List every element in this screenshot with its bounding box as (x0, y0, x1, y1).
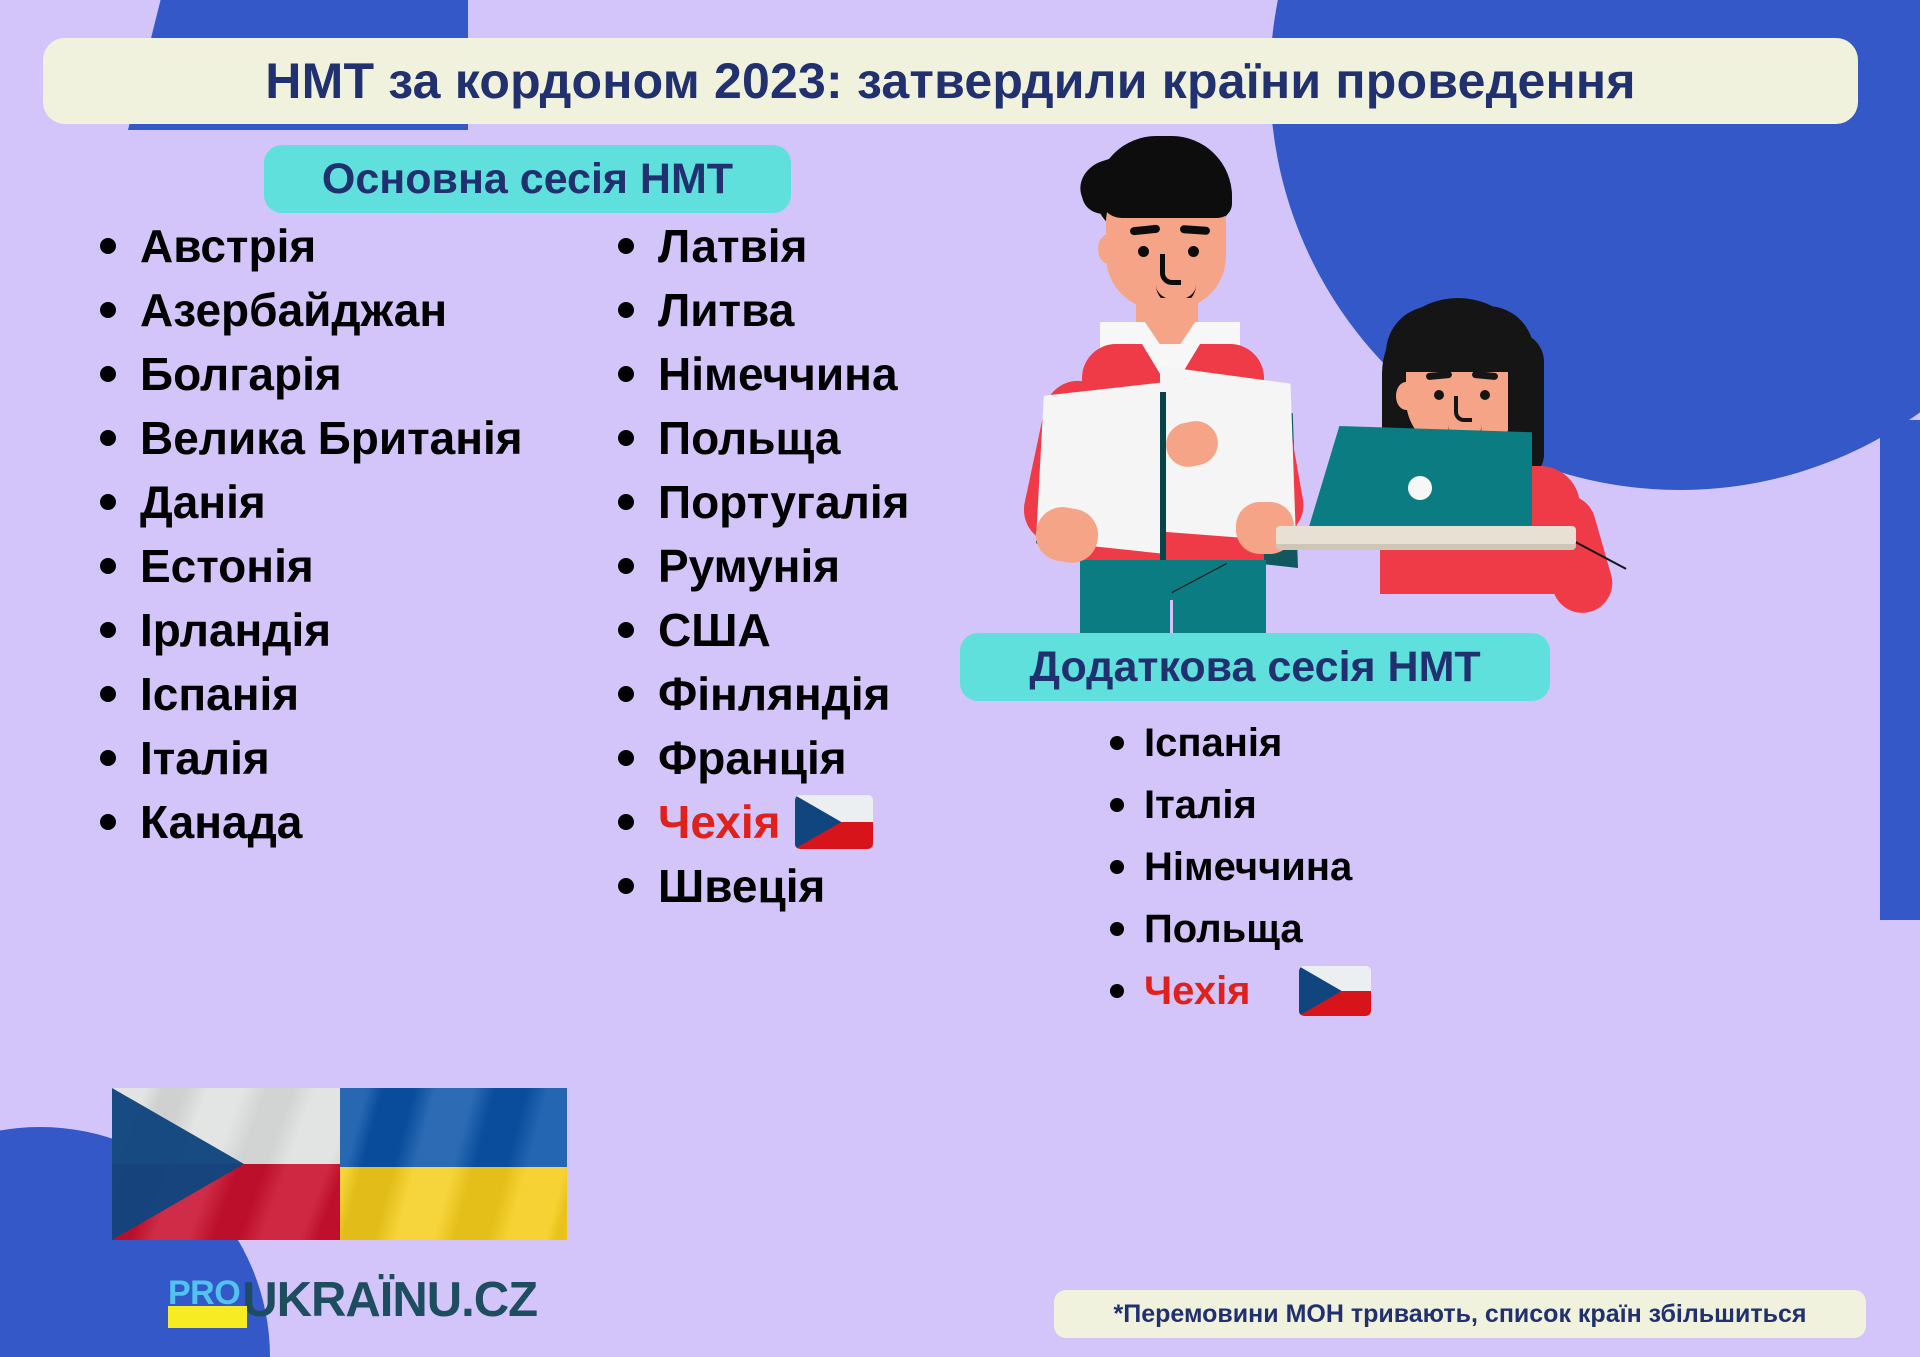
country-name: Фінляндія (658, 667, 891, 721)
czech-flag-photo (112, 1088, 340, 1240)
country-name: Франція (658, 731, 847, 785)
bullet-icon (618, 494, 634, 510)
page-title: НМТ за кордоном 2023: затвердили країни … (265, 52, 1635, 110)
country-name: США (658, 603, 771, 657)
country-name: Латвія (658, 219, 807, 273)
country-name: Болгарія (140, 347, 342, 401)
extra-session-badge-label: Додаткова сесія НМТ (1029, 643, 1480, 692)
country-list-item: Фінляндія (618, 662, 910, 726)
logo-main-text: UKRAÏNU.CZ (242, 1274, 537, 1326)
country-name: Данія (140, 475, 266, 529)
bullet-icon (618, 814, 634, 830)
country-list-item: Португалія (618, 470, 910, 534)
country-name: Польща (1144, 907, 1303, 952)
country-list-item: Франція (618, 726, 910, 790)
main-session-badge: Основна сесія НМТ (264, 145, 791, 213)
bullet-icon (618, 302, 634, 318)
boy-ear (1098, 234, 1120, 264)
bullet-icon (100, 814, 116, 830)
country-name: Італія (1144, 783, 1257, 828)
bullet-icon (618, 750, 634, 766)
country-name: Іспанія (140, 667, 299, 721)
bullet-icon (1110, 860, 1124, 874)
bullet-icon (1110, 736, 1124, 750)
country-name: Естонія (140, 539, 314, 593)
bullet-icon (100, 430, 116, 446)
country-name: Канада (140, 795, 302, 849)
bullet-icon (618, 558, 634, 574)
book-spine (1160, 392, 1166, 560)
extra-session-badge: Додаткова сесія НМТ (960, 633, 1550, 701)
country-list-item: Німеччина (1110, 836, 1371, 898)
title-banner: НМТ за кордоном 2023: затвердили країни … (43, 38, 1858, 124)
boy-eye-right (1188, 246, 1199, 257)
footer-note-banner: *Перемовини МОН тривають, список країн з… (1054, 1290, 1866, 1338)
laptop-icon (1300, 426, 1600, 562)
country-list-item: Чехія (1110, 960, 1371, 1022)
ukraine-flag-photo (340, 1088, 567, 1240)
bullet-icon (1110, 798, 1124, 812)
country-list-item: Велика Британія (100, 406, 523, 470)
boy-eye-left (1138, 246, 1149, 257)
country-list-item: Латвія (618, 214, 910, 278)
country-name: Ірландія (140, 603, 331, 657)
country-list-item: Ірландія (100, 598, 523, 662)
bullet-icon (100, 366, 116, 382)
logo-pro-block: PRO (168, 1276, 240, 1310)
infographic-canvas: НМТ за кордоном 2023: затвердили країни … (0, 0, 1920, 1357)
country-list-item: Канада (100, 790, 523, 854)
boy-nose (1160, 254, 1181, 285)
country-name: Португалія (658, 475, 910, 529)
boy-with-book-figure (930, 130, 1360, 650)
country-name: Чехія (658, 795, 781, 849)
bullet-icon (100, 238, 116, 254)
bullet-icon (618, 238, 634, 254)
country-name: Чехія (1144, 969, 1251, 1014)
bullet-icon (618, 686, 634, 702)
prouktainu-logo[interactable]: PRO UKRAÏNU.CZ (168, 1274, 537, 1340)
logo-pro-text: PRO (168, 1276, 240, 1310)
country-list-item: Австрія (100, 214, 523, 278)
bullet-icon (618, 366, 634, 382)
girl-eye-left (1434, 390, 1444, 400)
country-list-item: Чехія (618, 790, 910, 854)
country-list-item: США (618, 598, 910, 662)
country-list-item: Болгарія (100, 342, 523, 406)
country-list-item: Польща (618, 406, 910, 470)
main-session-country-list-column-2: ЛатвіяЛитваНімеччинаПольщаПортугаліяРуму… (618, 214, 910, 918)
extra-session-country-list: ІспаніяІталіяНімеччинаПольщаЧехія (1110, 712, 1371, 1022)
decorative-strip-right-mid (1880, 420, 1920, 920)
country-list-item: Румунія (618, 534, 910, 598)
country-list-item: Іспанія (100, 662, 523, 726)
bullet-icon (100, 622, 116, 638)
boy-hair-fringe (1100, 160, 1232, 218)
czech-ukraine-flags-photo (112, 1088, 567, 1240)
country-name: Італія (140, 731, 270, 785)
country-list-item: Естонія (100, 534, 523, 598)
bullet-icon (100, 302, 116, 318)
czech-flag-icon (1299, 966, 1371, 1016)
bullet-icon (618, 622, 634, 638)
bullet-icon (100, 750, 116, 766)
students-illustration (930, 130, 1630, 650)
country-name: Азербайджан (140, 283, 447, 337)
girl-ear (1396, 382, 1416, 410)
country-name: Польща (658, 411, 840, 465)
footer-note-text: *Перемовини МОН тривають, список країн з… (1114, 1300, 1807, 1329)
country-list-item: Швеція (618, 854, 910, 918)
laptop-base-shadow (1276, 544, 1576, 550)
country-name: Австрія (140, 219, 316, 273)
country-list-item: Польща (1110, 898, 1371, 960)
bullet-icon (100, 494, 116, 510)
girl-nose (1454, 396, 1472, 422)
country-name: Швеція (658, 859, 825, 913)
laptop-base (1276, 526, 1576, 546)
country-list-item: Італія (1110, 774, 1371, 836)
country-name: Німеччина (1144, 845, 1352, 890)
bullet-icon (618, 878, 634, 894)
bullet-icon (100, 686, 116, 702)
bullet-icon (1110, 984, 1124, 998)
country-list-item: Італія (100, 726, 523, 790)
decorative-strip-right-top (1850, 0, 1920, 250)
czech-flag-icon (795, 795, 873, 849)
country-list-item: Азербайджан (100, 278, 523, 342)
bullet-icon (618, 430, 634, 446)
laptop-logo-dot (1408, 476, 1432, 500)
country-name: Німеччина (658, 347, 898, 401)
country-name: Іспанія (1144, 721, 1282, 766)
main-session-badge-label: Основна сесія НМТ (322, 155, 733, 204)
country-name: Литва (658, 283, 794, 337)
country-name: Румунія (658, 539, 840, 593)
main-session-country-list-column-1: АвстріяАзербайджанБолгаріяВелика Британі… (100, 214, 523, 854)
bullet-icon (1110, 922, 1124, 936)
country-name: Велика Британія (140, 411, 523, 465)
country-list-item: Литва (618, 278, 910, 342)
girl-eye-right (1480, 390, 1490, 400)
country-list-item: Данія (100, 470, 523, 534)
country-list-item: Іспанія (1110, 712, 1371, 774)
bullet-icon (100, 558, 116, 574)
country-list-item: Німеччина (618, 342, 910, 406)
